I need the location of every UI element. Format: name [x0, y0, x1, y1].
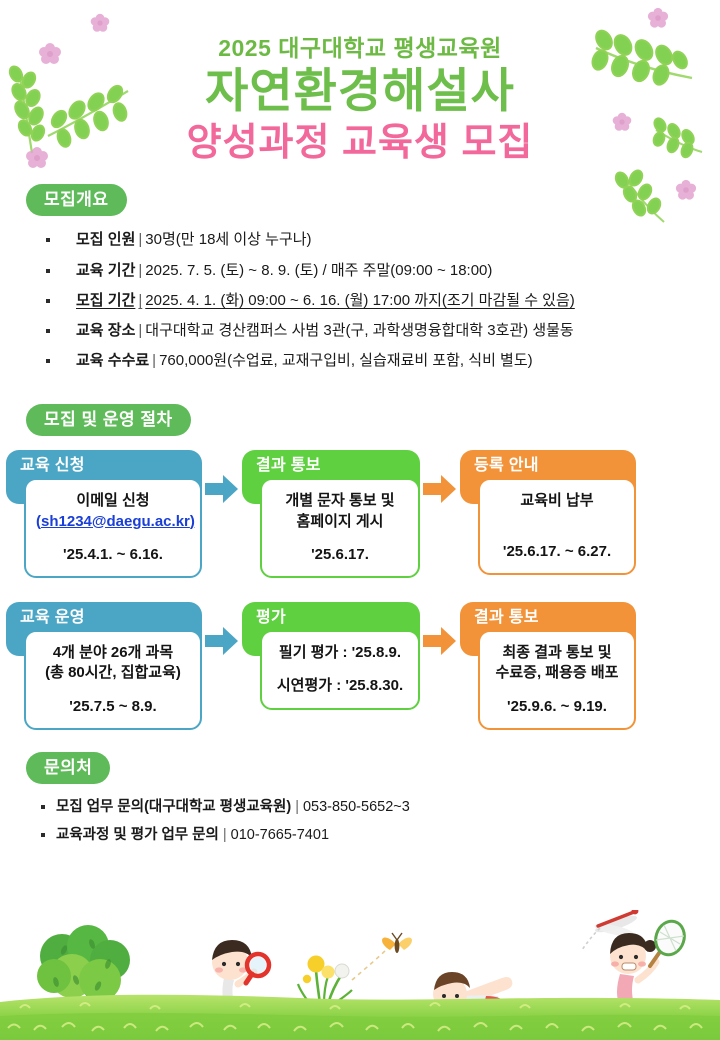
badge-overview: 모집개요 [26, 184, 127, 216]
flow-step-body: 최종 결과 통보 및 수료증, 패용증 배포 '25.9.6. ~ 9.19. [478, 630, 636, 730]
list-item: 모집 인원|30명(만 18세 이상 누구나) [42, 230, 720, 249]
overview-label: 교육 수수료 [76, 352, 149, 369]
overview-value: 대구대학교 경산캠퍼스 사범 3관(구, 과학생명융합대학 3호관) 생물동 [145, 322, 573, 339]
contact-phone: 010-7665-7401 [231, 827, 329, 843]
contact-sep: | [219, 827, 231, 843]
arrow-right-icon [420, 474, 460, 504]
flow-step-body: 교육비 납부 '25.6.17. ~ 6.27. [478, 478, 636, 575]
flow-line-2: 시연평가 : '25.8.30. [277, 677, 403, 694]
header-kicker: 2025 대구대학교 평생교육원 [0, 36, 720, 61]
flow-line-1: 교육비 납부 [520, 492, 593, 509]
flow-dates: '25.6.17. [272, 545, 408, 565]
badge-process: 모집 및 운영 절차 [26, 404, 191, 436]
poster-root: 2025 대구대학교 평생교육원 자연환경해설사 양성과정 교육생 모집 모집개… [0, 0, 720, 1040]
contact-sep: | [291, 799, 303, 815]
flow-dates: '25.4.1. ~ 6.16. [36, 545, 190, 565]
list-item: 교육 기간|2025. 7. 5. (토) ~ 8. 9. (토) / 매주 주… [42, 261, 720, 280]
contact-phone: 053-850-5652~3 [303, 799, 410, 815]
flow-line-2: (총 80시간, 집합교육) [45, 664, 181, 681]
list-item: 모집 업무 문의(대구대학교 평생교육원)|053-850-5652~3 [38, 798, 720, 817]
section-contact: 문의처 모집 업무 문의(대구대학교 평생교육원)|053-850-5652~3… [26, 752, 720, 845]
flow-line-1: 필기 평가 : '25.8.9. [279, 644, 401, 661]
overview-label: 교육 기간 [76, 262, 135, 279]
overview-label: 모집 인원 [76, 231, 135, 248]
flow-step-operation: 교육 운영 4개 분야 26개 과목 (총 80시간, 집합교육) '25.7.… [6, 602, 202, 730]
illustration-children-nature [0, 910, 720, 1040]
flow-line-1: 최종 결과 통보 및 [502, 644, 611, 661]
list-item: 교육과정 및 평가 업무 문의|010-7665-7401 [38, 826, 720, 845]
contact-list: 모집 업무 문의(대구대학교 평생교육원)|053-850-5652~3 교육과… [38, 798, 720, 845]
flow-line-1: 이메일 신청 [76, 492, 149, 509]
overview-value: 760,000원(수업료, 교재구입비, 실습재료비 포함, 식비 별도) [159, 352, 533, 369]
flow-step-body: 4개 분야 26개 과목 (총 80시간, 집합교육) '25.7.5 ~ 8.… [24, 630, 202, 730]
contact-label: 교육과정 및 평가 업무 문의 [56, 827, 219, 843]
overview-value: 2025. 4. 1. (화) 09:00 ~ 6. 16. (월) 17:00… [145, 292, 575, 309]
flow-dates: '25.6.17. ~ 6.27. [490, 542, 624, 562]
flow-line-2: 홈페이지 게시 [297, 513, 384, 530]
flow-dates: '25.7.5 ~ 8.9. [36, 697, 190, 717]
list-item: 교육 장소|대구대학교 경산캠퍼스 사범 3관(구, 과학생명융합대학 3호관)… [42, 321, 720, 340]
overview-sep: | [135, 322, 145, 339]
flower-cluster-icon [298, 956, 352, 1005]
overview-label: 모집 기간 [76, 292, 135, 309]
contact-label: 모집 업무 문의(대구대학교 평생교육원) [56, 799, 291, 815]
section-process: 모집 및 운영 절차 [26, 404, 720, 436]
list-item: 교육 수수료|760,000원(수업료, 교재구입비, 실습재료비 포함, 식비… [42, 351, 720, 370]
overview-value: 2025. 7. 5. (토) ~ 8. 9. (토) / 매주 주말(09:0… [145, 262, 492, 279]
arrow-right-icon [420, 626, 460, 656]
poster-header: 2025 대구대학교 평생교육원 자연환경해설사 양성과정 교육생 모집 [0, 0, 720, 166]
flow-step-body: 필기 평가 : '25.8.9. 시연평가 : '25.8.30. [260, 630, 420, 710]
overview-value: 30명(만 18세 이상 누구나) [145, 231, 311, 248]
paren-close: ) [190, 513, 195, 530]
overview-list: 모집 인원|30명(만 18세 이상 누구나) 교육 기간|2025. 7. 5… [42, 230, 720, 370]
page-title: 자연환경해설사 [0, 63, 720, 118]
overview-sep: | [149, 352, 159, 369]
flow-step-result-notice: 결과 통보 개별 문자 통보 및 홈페이지 게시 '25.6.17. [242, 450, 420, 578]
butterfly-icon [352, 933, 412, 980]
page-subtitle: 양성과정 교육생 모집 [0, 121, 720, 167]
process-flow-row-1: 교육 신청 이메일 신청 (sh1234@daegu.ac.kr) '25.4.… [0, 450, 720, 578]
list-item: 모집 기간|2025. 4. 1. (화) 09:00 ~ 6. 16. (월)… [42, 291, 720, 310]
flow-line-2: 수료증, 패용증 배포 [496, 664, 619, 681]
overview-sep: | [135, 292, 145, 309]
flow-dates: '25.9.6. ~ 9.19. [490, 697, 624, 717]
flow-step-body: 개별 문자 통보 및 홈페이지 게시 '25.6.17. [260, 478, 420, 578]
flow-step-body: 이메일 신청 (sh1234@daegu.ac.kr) '25.4.1. ~ 6… [24, 478, 202, 578]
flow-line-1: 개별 문자 통보 및 [285, 492, 394, 509]
flow-step-registration: 등록 안내 교육비 납부 '25.6.17. ~ 6.27. [460, 450, 636, 575]
overview-label: 교육 장소 [76, 322, 135, 339]
arrow-right-icon [202, 626, 242, 656]
section-overview: 모집개요 모집 인원|30명(만 18세 이상 누구나) 교육 기간|2025.… [26, 184, 720, 370]
overview-sep: | [135, 262, 145, 279]
flow-step-apply: 교육 신청 이메일 신청 (sh1234@daegu.ac.kr) '25.4.… [6, 450, 202, 578]
email-link[interactable]: sh1234@daegu.ac.kr [41, 513, 190, 530]
badge-contact: 문의처 [26, 752, 110, 784]
flow-step-evaluation: 평가 필기 평가 : '25.8.9. 시연평가 : '25.8.30. [242, 602, 420, 710]
flow-step-final-result: 결과 통보 최종 결과 통보 및 수료증, 패용증 배포 '25.9.6. ~ … [460, 602, 636, 730]
arrow-right-icon [202, 474, 242, 504]
overview-sep: | [135, 231, 145, 248]
apply-email-line: (sh1234@daegu.ac.kr) [36, 513, 195, 530]
flow-line-1: 4개 분야 26개 과목 [53, 644, 173, 661]
process-flow-row-2: 교육 운영 4개 분야 26개 과목 (총 80시간, 집합교육) '25.7.… [0, 602, 720, 730]
